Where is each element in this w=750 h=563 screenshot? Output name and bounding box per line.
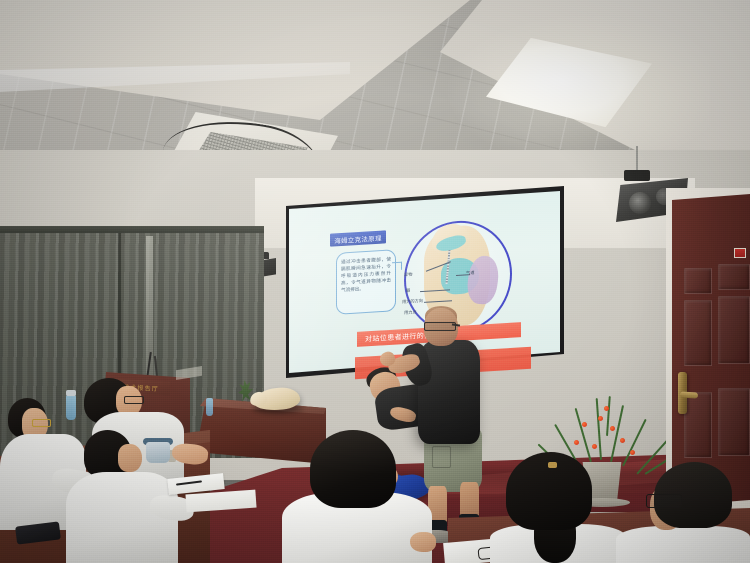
speaker-cable xyxy=(636,146,638,172)
door-panel xyxy=(684,392,712,458)
plant-flower xyxy=(582,422,587,427)
plant-stem xyxy=(575,408,592,462)
door-panel xyxy=(684,300,712,366)
door-panel xyxy=(718,264,750,290)
attendee-glasses xyxy=(32,419,51,427)
door-panel xyxy=(684,268,712,294)
plant-flower xyxy=(604,406,609,411)
instructor-shorts-pocket xyxy=(432,446,451,468)
training-room-photo: 海姆立克法原理 通过冲击患者腹部，使膈肌瞬间急速抬升，令呼吸道内压力骤然升高，令… xyxy=(0,0,750,563)
plant-flower xyxy=(620,438,625,443)
plant-flower xyxy=(592,444,597,449)
curtain-rail xyxy=(0,226,264,233)
plant-flower xyxy=(630,450,635,455)
water-bottle-cap xyxy=(66,390,76,396)
travel-mug xyxy=(146,442,170,463)
plant-stem xyxy=(610,405,624,462)
speaker-cone xyxy=(629,192,651,214)
attendee-hair-clip xyxy=(548,462,557,468)
water-bottle-table xyxy=(206,398,213,416)
plant-flower xyxy=(598,416,603,421)
attendee-uniform-shirt xyxy=(616,526,750,563)
attendee-glasses xyxy=(646,494,682,508)
plant-flower xyxy=(610,426,615,431)
plant-flower xyxy=(574,440,579,445)
water-bottle xyxy=(66,394,76,420)
plant-stem xyxy=(622,419,647,467)
door-panel xyxy=(718,296,750,364)
attendee-hair xyxy=(310,430,396,508)
door-panel xyxy=(718,388,750,456)
speaker-mount xyxy=(624,170,650,181)
attendee-hand xyxy=(410,532,436,552)
attendee-glasses xyxy=(124,396,144,404)
door-sign xyxy=(734,248,746,258)
attendee-face xyxy=(118,444,142,472)
door-lever-handle[interactable] xyxy=(680,391,698,398)
plant-stem xyxy=(596,398,602,460)
